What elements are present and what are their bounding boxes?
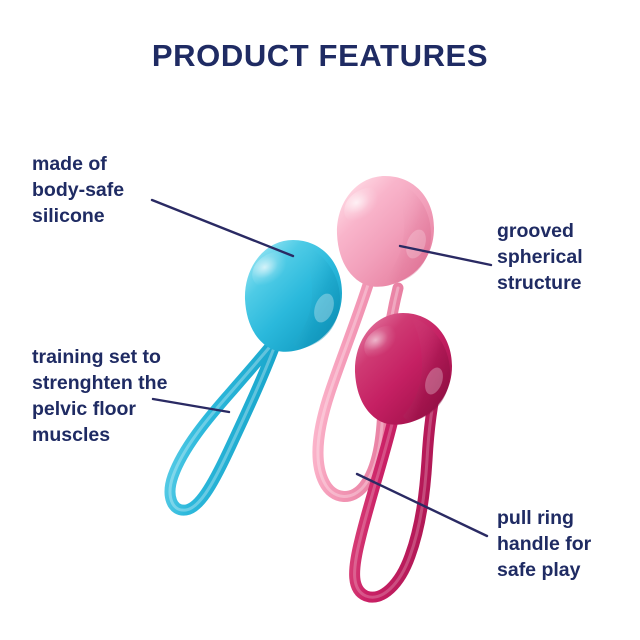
magenta-kegel-ball xyxy=(355,313,452,597)
callout-material: made of body-safe silicone xyxy=(32,151,202,229)
product-features-infographic: PRODUCT FEATURES xyxy=(0,0,640,640)
callout-pull-ring: pull ring handle for safe play xyxy=(497,505,640,583)
callout-grooved-structure: grooved spherical structure xyxy=(497,218,640,296)
callout-training: training set to strenghten the pelvic fl… xyxy=(32,344,242,448)
